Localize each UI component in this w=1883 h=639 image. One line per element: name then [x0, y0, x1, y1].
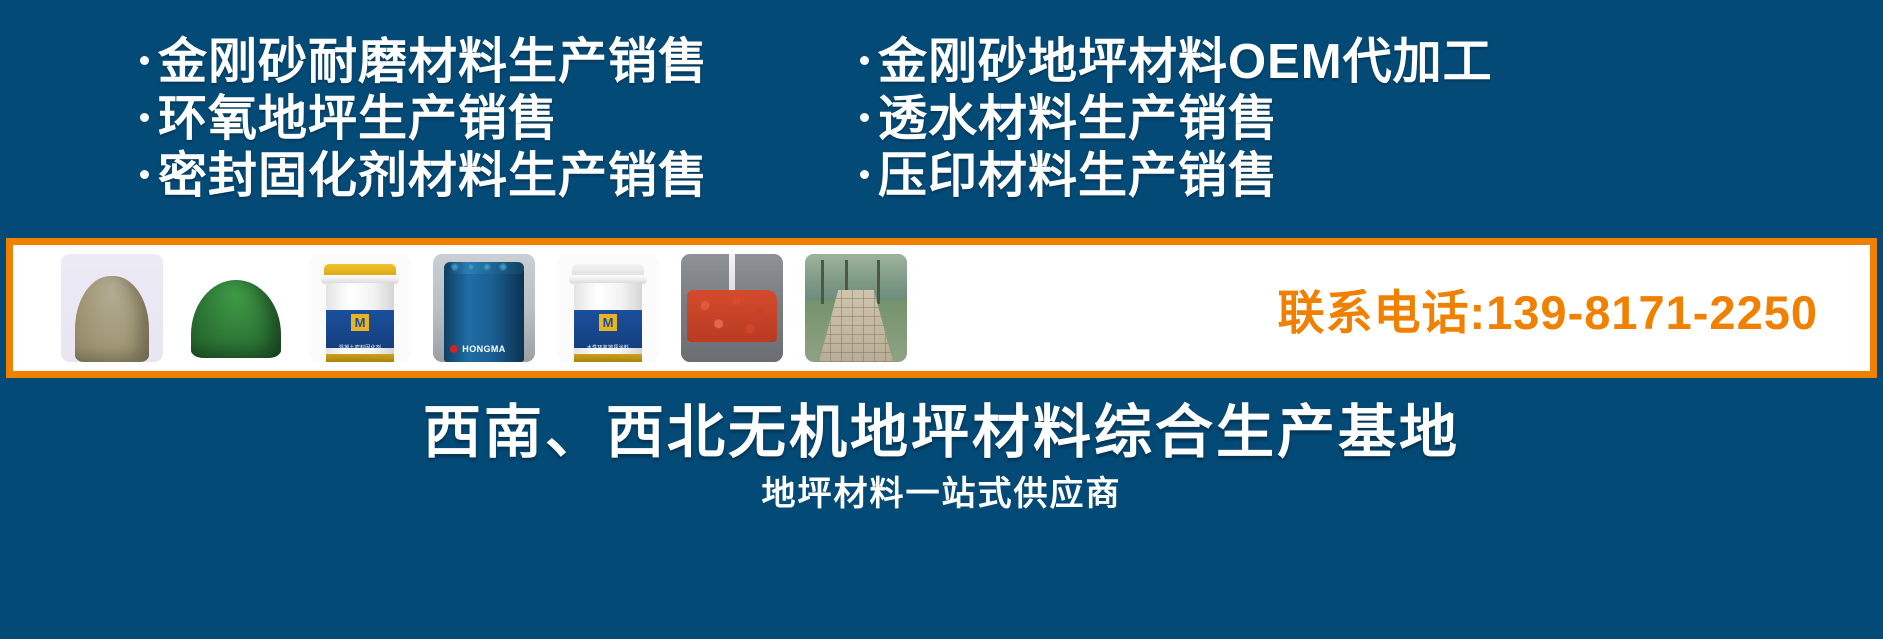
bullet-label: 透水材料生产销售 — [878, 91, 1278, 148]
bucket-label-text: 混凝土密封固化剂 — [321, 345, 399, 352]
drum-bolt-icon — [483, 263, 491, 271]
bullet-label: 密封固化剂材料生产销售 — [158, 148, 708, 205]
brand-logo-icon: M — [599, 314, 617, 331]
tree-icon — [821, 260, 824, 304]
bucket-base — [574, 354, 642, 362]
product-thumb-stamped-concrete-path — [805, 254, 907, 362]
bucket-base — [326, 354, 394, 362]
bullet-dot-icon — [860, 113, 869, 122]
product-thumbnail-list: M 混凝土密封固化剂 HONGMA — [13, 245, 907, 371]
product-thumb-red-permeable-paving — [681, 254, 783, 362]
advertisement-banner: 金刚砂耐磨材料生产销售 环氧地坪生产销售 密封固化剂材料生产销售 金刚砂地坪材料… — [0, 0, 1883, 639]
powder-pile-shape — [75, 276, 149, 362]
product-thumb-grey-quartz-powder — [61, 254, 163, 362]
bullet-item-left-2: 环氧地坪生产销售 — [140, 91, 740, 148]
drum-bolt-icon — [499, 263, 507, 271]
red-aggregate-shape — [687, 290, 777, 342]
bullet-label: 环氧地坪生产销售 — [158, 91, 558, 148]
contact-phone[interactable]: 联系电话:139-8171-2250 — [1278, 274, 1871, 343]
main-headline: 西南、西北无机地坪材料综合生产基地 — [0, 385, 1883, 469]
product-thumb-green-quartz-powder — [185, 254, 287, 362]
bullet-dot-icon — [140, 170, 149, 179]
bullet-column-right: 金刚砂地坪材料OEM代加工 透水材料生产销售 压印材料生产销售 — [740, 34, 1760, 234]
bullet-dot-icon — [860, 170, 869, 179]
drum-brand-text: HONGMA — [444, 344, 524, 354]
bullet-item-right-2: 透水材料生产销售 — [860, 91, 1760, 148]
bucket-shape: M 混凝土密封固化剂 — [321, 264, 399, 362]
service-bullets-area: 金刚砂耐磨材料生产销售 环氧地坪生产销售 密封固化剂材料生产销售 金刚砂地坪材料… — [0, 34, 1883, 234]
brand-logo-icon: M — [351, 314, 369, 331]
powder-pile-shape — [191, 280, 281, 358]
drum-bolt-icon — [451, 263, 459, 271]
bullet-label: 金刚砂地坪材料OEM代加工 — [878, 34, 1493, 91]
bucket-label-text: 水性环氧地坪涂料 — [569, 345, 647, 352]
bullet-dot-icon — [860, 56, 869, 65]
paving-walkway-shape — [819, 290, 893, 362]
sub-headline: 地坪材料一站式供应商 — [0, 466, 1883, 515]
bullet-label: 压印材料生产销售 — [878, 148, 1278, 205]
bullet-dot-icon — [140, 56, 149, 65]
bullet-item-left-1: 金刚砂耐磨材料生产销售 — [140, 34, 740, 91]
product-thumb-hongma-drum: HONGMA — [433, 254, 535, 362]
bullet-item-left-3: 密封固化剂材料生产销售 — [140, 148, 740, 205]
tree-icon — [877, 260, 880, 304]
bucket-shape: M 水性环氧地坪涂料 — [569, 264, 647, 362]
product-thumb-epoxy-paint-bucket: M 水性环氧地坪涂料 — [557, 254, 659, 362]
drum-bolt-icon — [467, 263, 475, 271]
bullet-label: 金刚砂耐磨材料生产销售 — [158, 34, 708, 91]
product-thumb-sealer-bucket: M 混凝土密封固化剂 — [309, 254, 411, 362]
bullet-item-right-3: 压印材料生产销售 — [860, 148, 1760, 205]
bullet-item-right-1: 金刚砂地坪材料OEM代加工 — [860, 34, 1760, 91]
bullet-column-left: 金刚砂耐磨材料生产销售 环氧地坪生产销售 密封固化剂材料生产销售 — [0, 34, 740, 234]
product-showcase-strip: M 混凝土密封固化剂 HONGMA — [6, 238, 1877, 378]
bullet-dot-icon — [140, 113, 149, 122]
